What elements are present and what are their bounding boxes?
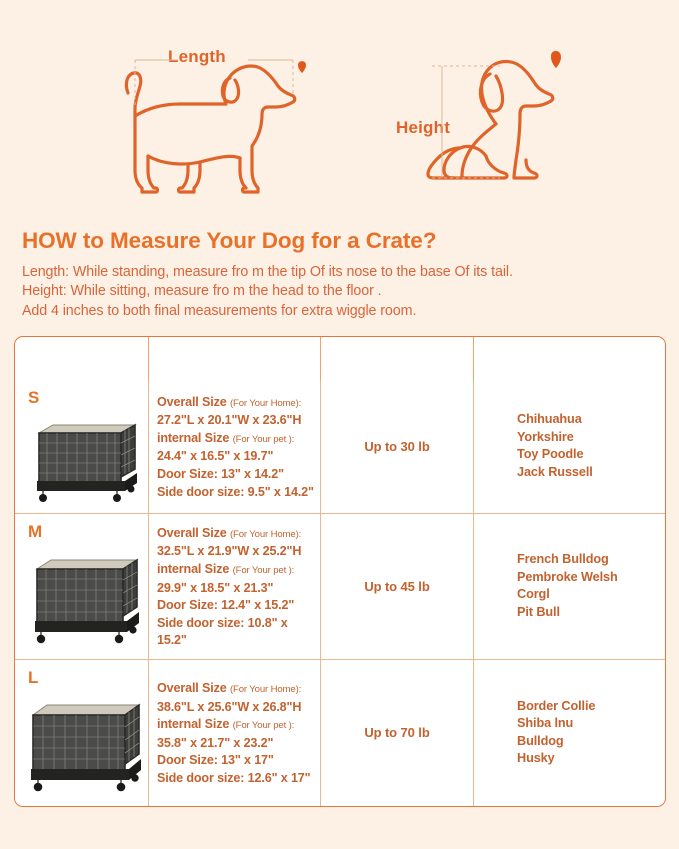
breed-item: Chihuahua xyxy=(517,411,593,429)
instructions-block: HOW to Measure Your Dog for a Crate? Len… xyxy=(0,228,679,321)
overall-size-label: Overall Size xyxy=(157,526,227,540)
internal-size-value: 29.9" x 18.5" x 21.3" xyxy=(157,580,314,598)
instruction-line-length: Length: While standing, measure fro m th… xyxy=(22,263,657,282)
weight-cell-m: Up to 45 lb xyxy=(321,514,474,660)
dog-crate-medium-image xyxy=(23,541,145,645)
instruction-lines: Length: While standing, measure fro m th… xyxy=(22,263,657,321)
side-door-size-value: Side door size: 9.5" x 14.2" xyxy=(157,484,314,502)
breeds-cell-s: Chihuahua Yorkshire Toy Poodle Jack Russ… xyxy=(474,380,665,514)
weight-value: Up to 30 lb xyxy=(364,439,429,454)
weight-value: Up to 70 lb xyxy=(364,725,429,740)
heart-icon xyxy=(551,51,561,68)
measurement-illustration: Length Height xyxy=(0,0,679,228)
door-size-value: Door Size: 12.4" x 15.2" xyxy=(157,597,314,615)
weight-cell-s: Up to 30 lb xyxy=(321,380,474,514)
overall-size-label: Overall Size xyxy=(157,681,227,695)
crate-cell-l: L xyxy=(15,660,149,806)
size-cell-l: Overall Size (For Your Home): 38.6"L x 2… xyxy=(149,660,321,806)
dog-standing-icon xyxy=(118,38,308,198)
size-cell-s: Overall Size (For Your Home): 27.2"L x 2… xyxy=(149,380,321,514)
breed-item: Shiba lnu xyxy=(517,715,595,733)
internal-size-label: internal Size xyxy=(157,717,229,731)
breed-item: Border Collie xyxy=(517,698,595,716)
dog-crate-large-image xyxy=(21,687,147,793)
column-header-creat: Creat xyxy=(15,337,149,380)
size-letter-l: L xyxy=(28,669,144,686)
internal-size-note: (For Your pet ): xyxy=(233,720,295,731)
side-door-size-value: Side door size: 12.6" x 17" xyxy=(157,770,310,788)
internal-size-note: (For Your pet ): xyxy=(233,434,295,445)
breed-item: Toy Poodle xyxy=(517,446,593,464)
weight-value: Up to 45 lb xyxy=(364,579,429,594)
breed-item: Husky xyxy=(517,750,595,768)
overall-size-value: 27.2"L x 20.1"W x 23.6"H xyxy=(157,412,314,430)
breed-item: Bulldog xyxy=(517,733,595,751)
heart-icon xyxy=(298,61,306,73)
weight-cell-l: Up to 70 lb xyxy=(321,660,474,806)
overall-size-value: 32.5"L x 21.9"W x 25.2"H xyxy=(157,543,314,561)
table-row: S xyxy=(15,380,665,514)
crate-size-table: Creat Creat Size Dog Weight Dog Breeds S xyxy=(14,336,666,807)
size-cell-m: Overall Size (For Your Home): 32.5"L x 2… xyxy=(149,514,321,660)
door-size-value: Door Size: 13" x 14.2" xyxy=(157,466,314,484)
table-header-row: Creat Creat Size Dog Weight Dog Breeds xyxy=(15,337,665,380)
overall-size-note: (For Your Home): xyxy=(230,398,301,409)
breeds-cell-l: Border Collie Shiba lnu Bulldog Husky xyxy=(474,660,665,806)
overall-size-value: 38.6"L x 25.6"W x 26.8"H xyxy=(157,699,310,717)
table-row: L xyxy=(15,660,665,806)
door-size-value: Door Size: 13" x 17" xyxy=(157,752,310,770)
breeds-cell-m: French Bulldog Pembroke Welsh Corgl Pit … xyxy=(474,514,665,660)
table-row: M xyxy=(15,514,665,660)
breed-item: Corgl xyxy=(517,586,618,604)
breed-item: French Bulldog xyxy=(517,551,618,569)
instruction-line-height: Height: While sitting, measure fro m the… xyxy=(22,282,657,301)
page-title: HOW to Measure Your Dog for a Crate? xyxy=(22,228,657,254)
column-header-dog-weight: Dog Weight xyxy=(321,337,474,380)
dog-sitting-icon xyxy=(400,44,575,192)
column-header-creat-size: Creat Size xyxy=(149,337,321,380)
internal-size-value: 24.4" x 16.5" x 19.7" xyxy=(157,448,314,466)
overall-size-note: (For Your Home): xyxy=(230,529,301,540)
internal-size-value: 35.8" x 21.7" x 23.2" xyxy=(157,735,310,753)
size-letter-s: S xyxy=(28,389,144,406)
breed-item: Jack Russell xyxy=(517,464,593,482)
breed-item: Pit Bull xyxy=(517,604,618,622)
overall-size-label: Overall Size xyxy=(157,395,227,409)
side-door-size-value: Side door size: 10.8" x 15.2" xyxy=(157,615,314,650)
crate-cell-s: S xyxy=(15,380,149,514)
overall-size-note: (For Your Home): xyxy=(230,684,301,695)
dog-crate-small-image xyxy=(25,407,143,503)
internal-size-note: (For Your pet ): xyxy=(233,565,295,576)
internal-size-label: internal Size xyxy=(157,562,229,576)
size-letter-m: M xyxy=(28,523,144,540)
breed-item: Pembroke Welsh xyxy=(517,569,618,587)
breed-item: Yorkshire xyxy=(517,429,593,447)
internal-size-label: internal Size xyxy=(157,431,229,445)
column-header-dog-breeds: Dog Breeds xyxy=(474,337,665,380)
crate-cell-m: M xyxy=(15,514,149,660)
instruction-line-extra: Add 4 inches to both final measurements … xyxy=(22,302,657,321)
